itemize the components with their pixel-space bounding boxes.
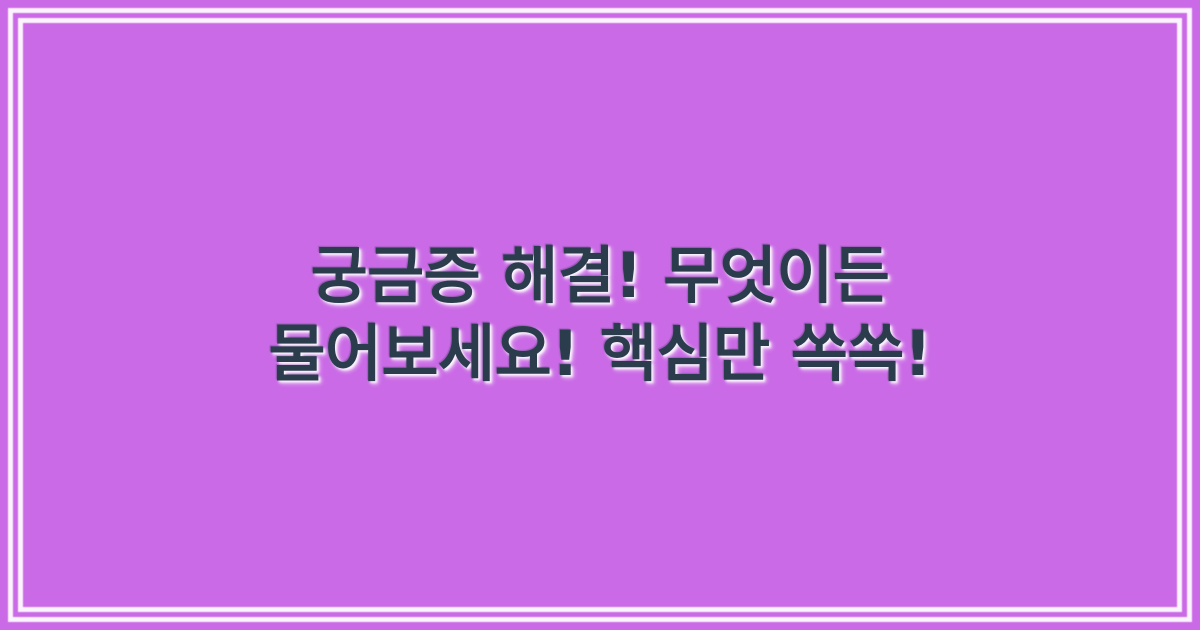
page-title: 궁금증 해결! 무엇이든 물어보세요! 핵심만 쏙쏙!: [250, 237, 950, 393]
poster-canvas: 궁금증 해결! 무엇이든 물어보세요! 핵심만 쏙쏙!: [0, 0, 1200, 630]
headline-container: 궁금증 해결! 무엇이든 물어보세요! 핵심만 쏙쏙!: [0, 0, 1200, 630]
